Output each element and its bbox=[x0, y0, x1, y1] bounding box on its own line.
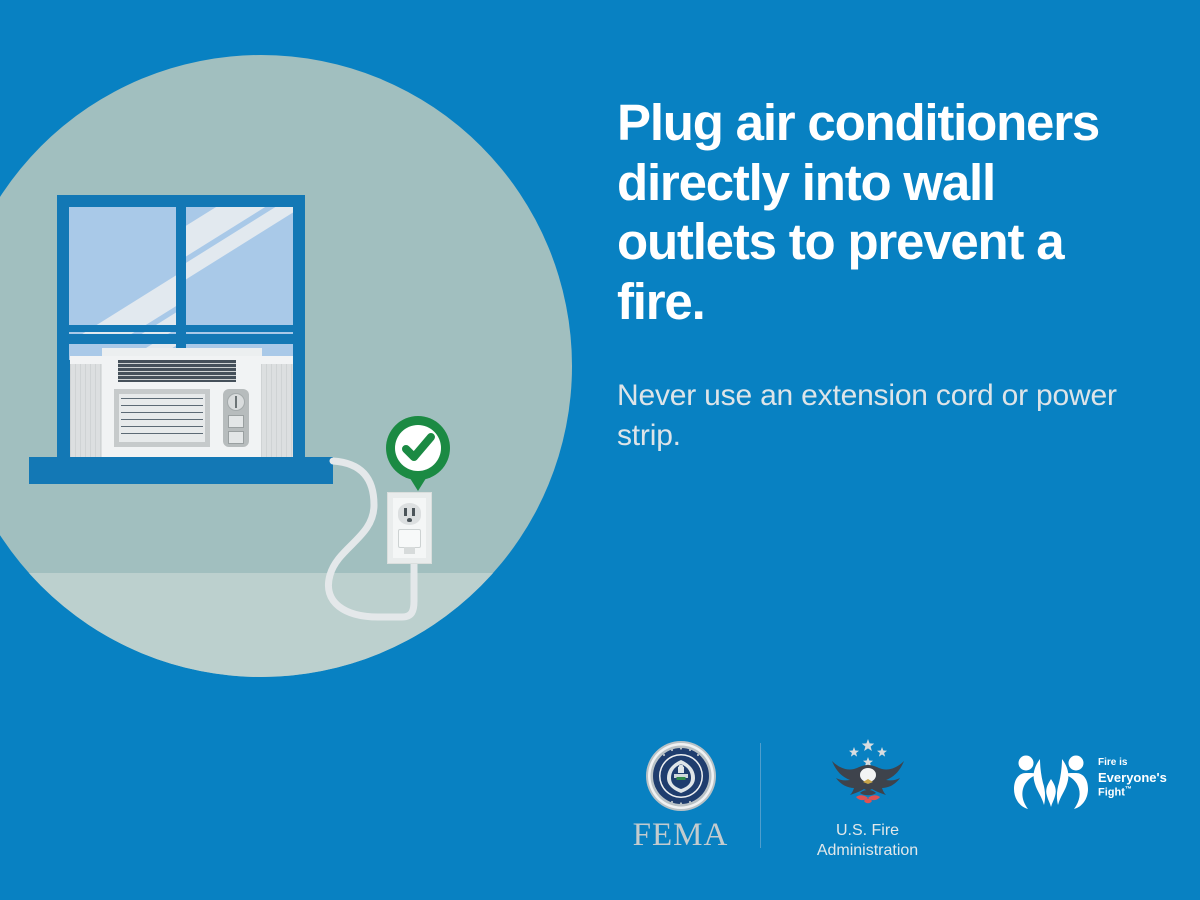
fire-is-everyones-fight-logo[interactable]: Fire is Everyone's Fight™ bbox=[1010, 753, 1170, 813]
usfa-logo[interactable]: U.S. Fire Administration bbox=[790, 735, 945, 860]
poster-canvas: Plug air conditioners directly into wall… bbox=[0, 0, 1200, 900]
approved-check-marker-icon bbox=[385, 415, 451, 491]
outlet-receptacle-icon bbox=[398, 503, 421, 525]
footer-logos: FEMA U.S. bbox=[600, 735, 1180, 865]
usfa-wordmark-line1: U.S. Fire bbox=[790, 821, 945, 840]
dhs-seal-icon bbox=[645, 740, 717, 812]
outlet-ground-hole bbox=[407, 518, 412, 522]
outlet-slot-right bbox=[412, 508, 415, 516]
message-block: Plug air conditioners directly into wall… bbox=[617, 93, 1157, 455]
fire-is-everyones-fight-figures-icon bbox=[1010, 753, 1094, 811]
subheadline: Never use an extension cord or power str… bbox=[617, 376, 1157, 456]
headline: Plug air conditioners directly into wall… bbox=[617, 93, 1157, 332]
plug-icon bbox=[398, 529, 421, 548]
footer-divider bbox=[760, 743, 761, 848]
outlet-slot-left bbox=[404, 508, 407, 516]
scene-circle bbox=[0, 55, 572, 677]
power-cord bbox=[0, 55, 570, 677]
illustration-area bbox=[0, 0, 620, 700]
feef-line3-text: Fight bbox=[1098, 786, 1125, 798]
trademark-symbol: ™ bbox=[1125, 786, 1132, 793]
feef-line3: Fight™ bbox=[1098, 786, 1167, 800]
fema-logo[interactable]: FEMA bbox=[618, 740, 743, 852]
outlet-face bbox=[393, 498, 426, 558]
wall-outlet[interactable] bbox=[387, 492, 432, 564]
usfa-eagle-emblem-icon bbox=[820, 735, 916, 815]
feef-line1: Fire is bbox=[1098, 757, 1167, 770]
usfa-wordmark-line2: Administration bbox=[790, 841, 945, 860]
fema-wordmark: FEMA bbox=[618, 819, 743, 852]
feef-line2: Everyone's bbox=[1098, 770, 1167, 786]
fire-is-everyones-fight-wordmark: Fire is Everyone's Fight™ bbox=[1098, 757, 1167, 800]
plug-cord-neck bbox=[404, 547, 415, 554]
